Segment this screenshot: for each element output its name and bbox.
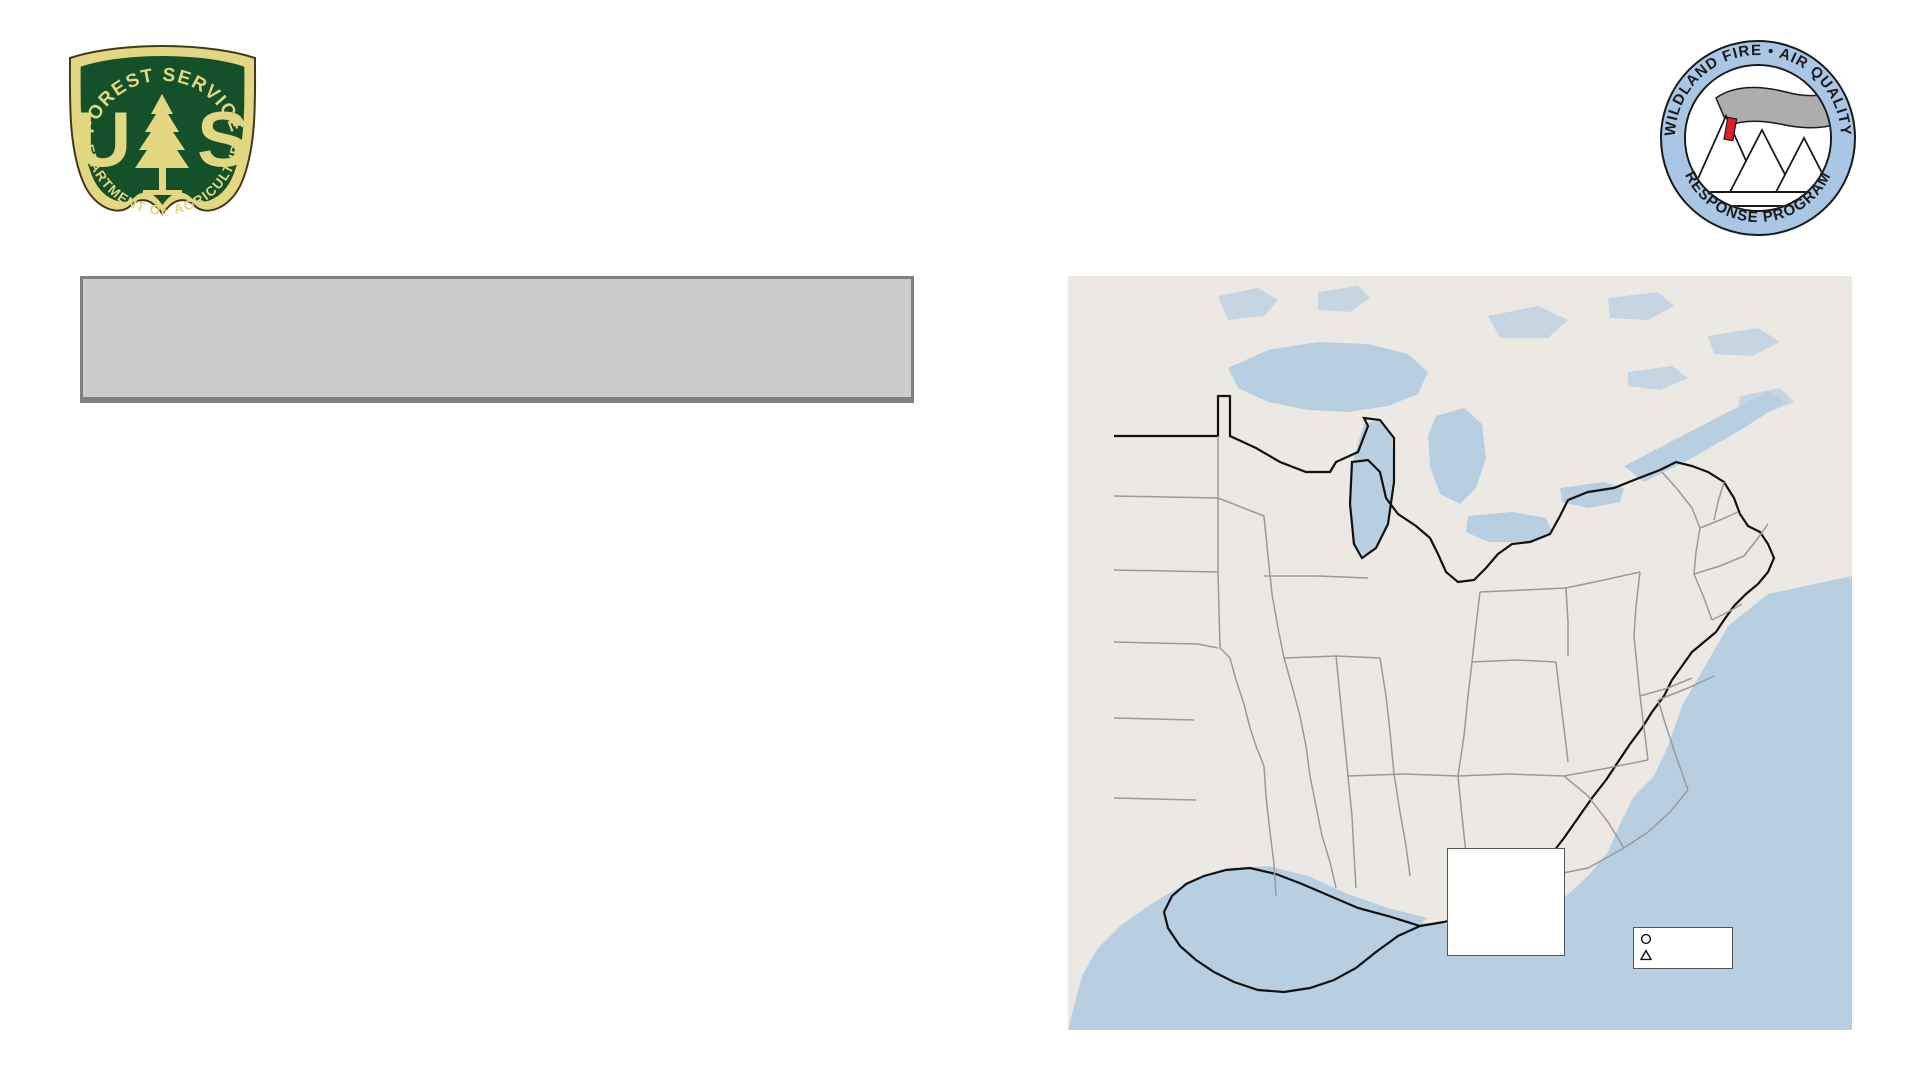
- nowcast-table-panel: [80, 276, 914, 403]
- nowcast-table: [83, 279, 911, 400]
- header: FOREST SERVICE DEPARTMENT OF AGRICULTURE…: [0, 0, 1920, 270]
- circle-marker-icon: [1638, 933, 1654, 945]
- aqi-legend: [1447, 848, 1565, 956]
- column-header-site: [83, 279, 513, 399]
- column-header-pm-nowcast: [703, 279, 911, 399]
- forest-service-shield-icon: FOREST SERVICE DEPARTMENT OF AGRICULTURE…: [55, 38, 270, 243]
- wildland-fire-air-quality-logo: WILDLAND FIRE • AIR QUALITY RESPONSE PRO…: [1658, 38, 1858, 238]
- forest-service-shield-logo: FOREST SERVICE DEPARTMENT OF AGRICULTURE…: [55, 38, 270, 243]
- column-header-state: [513, 279, 703, 399]
- table-header-row: [83, 279, 911, 399]
- triangle-marker-icon: [1638, 949, 1654, 961]
- legend-item-temporary: [1638, 931, 1728, 947]
- marker-type-legend: [1633, 927, 1733, 969]
- table-header: [83, 279, 911, 399]
- air-quality-map[interactable]: [1068, 276, 1852, 1030]
- mountains-smoke-plume-icon: WILDLAND FIRE • AIR QUALITY RESPONSE PRO…: [1658, 38, 1858, 238]
- svg-text:S: S: [197, 95, 249, 183]
- legend-item-permanent: [1638, 947, 1728, 963]
- svg-text:U: U: [75, 95, 131, 183]
